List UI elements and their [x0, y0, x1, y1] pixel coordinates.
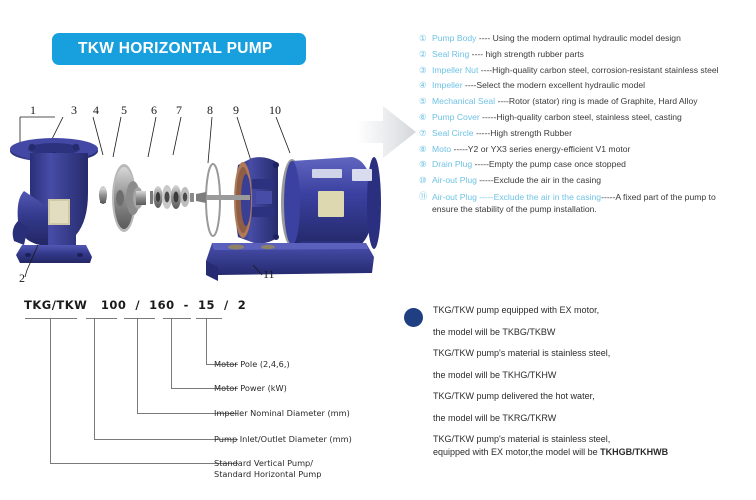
model-label-standard-horizontal: Standard Horizontal Pump: [214, 469, 321, 479]
legend-desc-11: -----A fixed part of the pump to: [601, 192, 716, 202]
notes-text-list: TKG/TKW pump equipped with EX motor, the…: [433, 305, 753, 469]
legend-number-10: ⑩: [419, 175, 432, 186]
page-title: TKW HORIZONTAL PUMP: [78, 40, 273, 58]
legend-number-11: ⑪: [419, 191, 432, 202]
leader-inlet-vertical: [94, 318, 95, 440]
model-token-slash-2: /: [224, 298, 229, 312]
model-label-motor-power: Motor Power (kW): [214, 383, 287, 394]
legend-part-name-2: Seal Ring: [432, 49, 469, 59]
legend-part-name-10: Air-out Plug: [432, 175, 477, 185]
callout-number-10: 10: [269, 103, 281, 118]
parts-legend-list: ① Pump Body ---- Using the modern optima…: [419, 33, 756, 220]
model-label-impeller-diameter: Impeller Nominal Diameter (mm): [214, 408, 350, 419]
legend-part-name-9: Drain Plug: [432, 159, 472, 169]
model-variants-notes: TKG/TKW pump equipped with EX motor, the…: [400, 300, 756, 500]
callout-number-1: 1: [30, 103, 36, 118]
note-line-1: TKG/TKW pump equipped with EX motor,: [433, 305, 753, 316]
legend-item-4: ④ Impeller ----Select the modern excelle…: [419, 80, 756, 91]
model-label-inlet-outlet-diameter: Pump Inlet/Outlet Diameter (mm): [214, 434, 352, 445]
legend-item-10: ⑩ Air-out Plug -----Exclude the air in t…: [419, 175, 756, 186]
note-line-3: TKG/TKW pump's material is stainless ste…: [433, 348, 753, 359]
legend-desc-4: ----Select the modern excellent hydrauli…: [465, 80, 645, 90]
legend-desc-6: -----High-quality carbon steel, stainles…: [482, 112, 682, 122]
legend-number-4: ④: [419, 80, 432, 91]
legend-desc-5: ----Rotor (stator) ring is made of Graph…: [497, 96, 697, 106]
model-token-power: 15: [198, 298, 215, 312]
leader-pole-vertical: [206, 318, 207, 365]
legend-part-name-1: Pump Body: [432, 33, 476, 43]
leader-power-vertical: [171, 318, 172, 389]
legend-part-name-8: Moto: [432, 144, 451, 154]
note-line-8-model: TKHGB/TKHWB: [600, 447, 668, 457]
legend-part-name-3: Impeller Nut: [432, 65, 478, 75]
callout-number-6: 6: [151, 103, 157, 118]
legend-number-5: ⑤: [419, 96, 432, 107]
arrow-right-icon: [357, 103, 417, 161]
callout-number-11: 11: [263, 267, 275, 282]
note-line-7: TKG/TKW pump's material is stainless ste…: [433, 434, 753, 445]
legend-item-8: ⑧ Moto -----Y2 or YX3 series energy-effi…: [419, 144, 756, 155]
note-line-4: the model will be TKHG/TKHW: [433, 370, 753, 381]
callout-number-9: 9: [233, 103, 239, 118]
header-banner: TKW HORIZONTAL PUMP: [52, 33, 306, 65]
legend-desc-3: ----High-quality carbon steel, corrosion…: [481, 65, 719, 75]
model-underline-prefix: [25, 318, 77, 319]
model-label-motor-pole: Motor Pole (2,4,6,): [214, 359, 290, 370]
legend-desc-11-cont: ensure the stability of the pump install…: [432, 204, 597, 214]
model-label-standard-vertical: Standard Vertical Pump/: [214, 458, 313, 468]
model-token-prefix: TKG/TKW: [24, 298, 87, 312]
note-line-6: the model will be TKRG/TKRW: [433, 413, 753, 424]
legend-part-name-7: Seal Circle: [432, 128, 474, 138]
legend-number-2: ②: [419, 49, 432, 60]
note-line-8-prefix: equipped with EX motor,the model will be: [433, 447, 600, 457]
legend-number-3: ③: [419, 65, 432, 76]
model-code-string: TKG/TKW 100 / 160 - 15 / 2: [24, 298, 246, 312]
leader-standard-horizontal: [50, 463, 238, 464]
note-line-2: the model will be TKBG/TKBW: [433, 327, 753, 338]
callout-number-2: 2: [19, 271, 25, 286]
pump-assembly-illustration: [0, 95, 400, 295]
legend-number-6: ⑥: [419, 112, 432, 123]
model-token-inlet: 100: [101, 298, 127, 312]
legend-part-name-6: Pump Cover: [432, 112, 480, 122]
note-line-8: equipped with EX motor,the model will be…: [433, 447, 753, 458]
model-underline-inlet: [86, 318, 117, 319]
legend-item-3: ③ Impeller Nut ----High-quality carbon s…: [419, 65, 756, 76]
callout-number-5: 5: [121, 103, 127, 118]
legend-desc-7: -----High strength Rubber: [476, 128, 572, 138]
model-underline-pole: [196, 318, 222, 319]
callout-number-8: 8: [207, 103, 213, 118]
note-line-5: TKG/TKW pump delivered the hot water,: [433, 391, 753, 402]
leader-impeller-vertical: [137, 318, 138, 414]
legend-desc-2: ---- high strength rubber parts: [472, 49, 584, 59]
legend-number-7: ⑦: [419, 128, 432, 139]
legend-item-1: ① Pump Body ---- Using the modern optima…: [419, 33, 756, 44]
leader-standard-vertical: [50, 318, 51, 464]
legend-item-9: ⑨ Drain Plug -----Empty the pump case on…: [419, 159, 756, 170]
legend-desc-8: -----Y2 or YX3 series energy-efficient V…: [454, 144, 631, 154]
flow-arrow: [357, 103, 417, 161]
model-underline-power: [163, 318, 191, 319]
legend-desc-10: -----Exclude the air in the casing: [479, 175, 601, 185]
legend-part-name-5: Mechanical Seal: [432, 96, 495, 106]
callout-number-3: 3: [71, 103, 77, 118]
legend-number-8: ⑧: [419, 144, 432, 155]
model-token-impeller: 160: [149, 298, 175, 312]
model-underline-impeller: [124, 318, 155, 319]
model-token-pole: 2: [238, 298, 247, 312]
callout-number-7: 7: [176, 103, 182, 118]
model-label-standard-pump: Standard Vertical Pump/ Standard Horizon…: [214, 458, 321, 480]
legend-item-11: ⑪ Air-out Plug -----Exclude the air in t…: [419, 191, 756, 215]
legend-desc-1: ---- Using the modern optimal hydraulic …: [479, 33, 681, 43]
legend-item-5: ⑤ Mechanical Seal ----Rotor (stator) rin…: [419, 96, 756, 107]
legend-number-9: ⑨: [419, 159, 432, 170]
model-token-dash: -: [184, 298, 189, 312]
callout-number-4: 4: [93, 103, 99, 118]
legend-part-name-11: Air-out Plug -----Exclude the air in the…: [432, 192, 601, 202]
model-code-designation-diagram: TKG/TKW 100 / 160 - 15 / 2 Motor Pole (2…: [0, 296, 400, 496]
legend-item-7: ⑦ Seal Circle -----High strength Rubber: [419, 128, 756, 139]
legend-desc-9: -----Empty the pump case once stopped: [475, 159, 626, 169]
exploded-pump-assembly-figure: 1 3 4 5 6 7 8 9 10 2 11: [0, 95, 400, 295]
legend-part-name-4: Impeller: [432, 80, 463, 90]
model-token-slash-1: /: [135, 298, 140, 312]
legend-item-2: ② Seal Ring ---- high strength rubber pa…: [419, 49, 756, 60]
legend-item-6: ⑥ Pump Cover -----High-quality carbon st…: [419, 112, 756, 123]
bullet-dot-icon: [404, 308, 423, 327]
legend-number-1: ①: [419, 33, 432, 44]
